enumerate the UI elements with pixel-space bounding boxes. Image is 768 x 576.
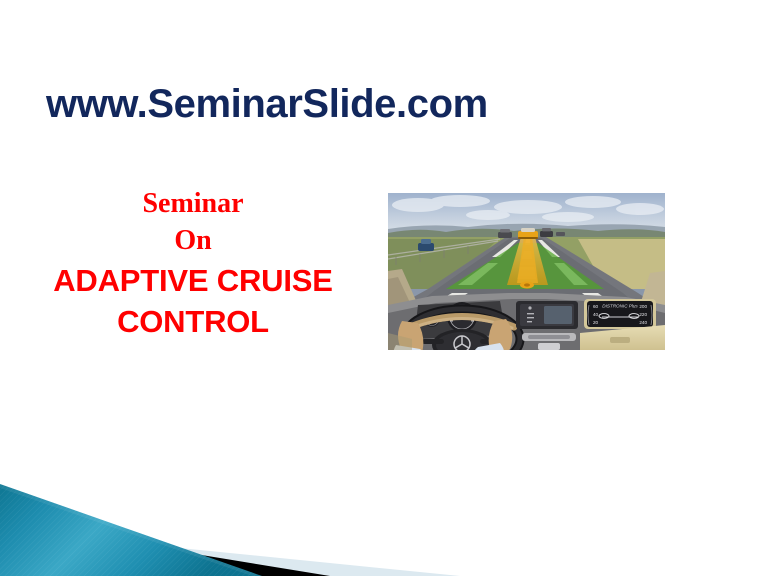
svg-text:200: 200 [639, 304, 647, 309]
svg-text:20: 20 [593, 320, 599, 325]
topic-line-1: ADAPTIVE CRUISE [28, 260, 358, 301]
svg-text:40: 40 [593, 312, 599, 317]
seminar-line-1: Seminar [28, 186, 358, 223]
topic-line-2: CONTROL [28, 301, 358, 342]
svg-text:DISTRONIC Plus: DISTRONIC Plus [602, 304, 638, 309]
svg-text:220: 220 [639, 312, 647, 317]
adaptive-cruise-control-photo: DISTRONIC Plus 60 40 20 200 220 240 [388, 193, 665, 350]
seminar-text-block: Seminar On ADAPTIVE CRUISE CONTROL [28, 186, 358, 342]
corner-ribbon-decoration [0, 456, 768, 576]
page-title: www.SeminarSlide.com [46, 82, 488, 126]
slide-canvas: www.SeminarSlide.com Seminar On ADAPTIVE… [0, 0, 768, 576]
seminar-line-2: On [28, 223, 358, 260]
svg-text:240: 240 [639, 320, 647, 325]
svg-text:60: 60 [593, 304, 599, 309]
